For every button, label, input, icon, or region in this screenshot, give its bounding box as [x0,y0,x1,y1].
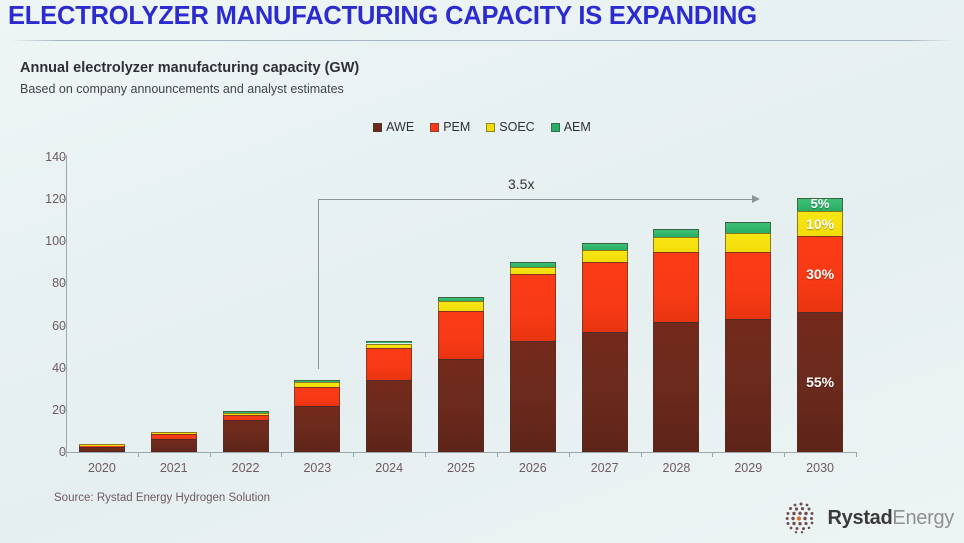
bar-value-label: 10% [798,216,842,232]
dotted-sphere-icon [783,500,819,536]
y-axis-tick-mark [62,199,67,200]
x-axis-tick-mark [784,452,785,457]
x-axis-tick-mark [712,452,713,457]
annotation-growth-label: 3.5x [508,176,534,192]
y-axis-tick-mark [62,241,67,242]
y-axis-tick-label: 100 [0,234,66,248]
x-axis-tick-mark [66,452,67,457]
x-axis-tick-label: 2023 [303,461,331,475]
bar-segment-2024-awe[interactable] [366,380,412,452]
bar-segment-2025-soec[interactable] [438,301,484,310]
bar-2021[interactable] [151,157,197,452]
bar-segment-2026-aem[interactable] [510,262,556,266]
bar-segment-2025-pem[interactable] [438,311,484,359]
x-axis-tick-label: 2022 [232,461,260,475]
bar-segment-2029-awe[interactable] [725,319,771,452]
y-axis-tick-label: 20 [0,403,66,417]
x-axis-tick-mark [281,452,282,457]
bar-segment-2023-soec[interactable] [294,382,340,386]
y-axis-tick-mark [62,283,67,284]
logo-wordmark: RystadEnergy [828,507,954,530]
bar-segment-2022-aem[interactable] [223,411,269,413]
y-axis-tick-mark [62,157,67,158]
bar-2020[interactable] [79,157,125,452]
bar-segment-2024-pem[interactable] [366,348,412,381]
y-axis-tick-label: 60 [0,319,66,333]
bar-segment-2023-awe[interactable] [294,406,340,452]
x-axis-tick-label: 2024 [375,461,403,475]
annotation-line-vertical [318,199,319,369]
x-axis-tick-mark [425,452,426,457]
bar-segment-2021-pem[interactable] [151,434,197,439]
bar-2025[interactable] [438,157,484,452]
bar-segment-2026-soec[interactable] [510,267,556,274]
x-axis-tick-label: 2029 [734,461,762,475]
y-axis-tick-label: 140 [0,150,66,164]
bar-segment-2028-pem[interactable] [653,252,699,323]
bar-segment-2024-soec[interactable] [366,344,412,348]
logo-text-bold: Rystad [828,507,893,529]
bar-2029[interactable] [725,157,771,452]
bar-segment-2023-pem[interactable] [294,387,340,406]
y-axis-tick-mark [62,410,67,411]
bar-segment-2030-aem[interactable]: 5% [797,198,843,211]
bar-value-label: 5% [798,196,842,211]
bar-segment-2030-soec[interactable]: 10% [797,211,843,236]
x-axis-line [66,452,856,453]
bar-segment-2027-pem[interactable] [582,262,628,332]
y-axis-tick-mark [62,368,67,369]
bar-segment-2026-awe[interactable] [510,341,556,452]
bar-value-label: 55% [798,374,842,390]
x-axis-tick-mark [210,452,211,457]
y-axis-tick-label: 120 [0,192,66,206]
bar-segment-2027-aem[interactable] [582,243,628,249]
bar-2022[interactable] [223,157,269,452]
x-axis-tick-label: 2021 [160,461,188,475]
logo-text-light: Energy [892,507,954,529]
bar-segment-2024-aem[interactable] [366,341,412,343]
bar-value-label: 30% [798,266,842,282]
chart-plot-area: 140120100806040200 202020212022202320242… [0,0,964,543]
bar-segment-2022-pem[interactable] [223,415,269,420]
bar-2028[interactable] [653,157,699,452]
bar-segment-2027-soec[interactable] [582,250,628,263]
bar-2024[interactable] [366,157,412,452]
bar-segment-2028-awe[interactable] [653,322,699,452]
y-axis-tick-label: 40 [0,361,66,375]
bar-segment-2023-aem[interactable] [294,380,340,382]
annotation-arrowhead-icon [752,195,760,203]
source-note: Source: Rystad Energy Hydrogen Solution [54,492,270,504]
x-axis-tick-mark [641,452,642,457]
bar-2027[interactable] [582,157,628,452]
x-axis-tick-label: 2020 [88,461,116,475]
y-axis-tick-mark [62,326,67,327]
bar-segment-2030-awe[interactable]: 55% [797,312,843,452]
bar-segment-2029-aem[interactable] [725,222,771,233]
y-axis-tick-label: 80 [0,276,66,290]
bar-segment-2025-awe[interactable] [438,359,484,452]
bar-segment-2022-awe[interactable] [223,420,269,452]
x-axis-tick-label: 2030 [806,461,834,475]
bar-2026[interactable] [510,157,556,452]
x-axis-tick-mark [856,452,857,457]
bar-segment-2025-aem[interactable] [438,297,484,301]
x-axis-tick-mark [138,452,139,457]
bar-segment-2030-pem[interactable]: 30% [797,236,843,312]
x-axis-tick-mark [569,452,570,457]
x-axis-tick-mark [353,452,354,457]
bar-segment-2027-awe[interactable] [582,332,628,452]
x-axis-tick-label: 2027 [591,461,619,475]
x-axis-tick-label: 2026 [519,461,547,475]
bar-segment-2026-pem[interactable] [510,274,556,341]
bar-segment-2029-soec[interactable] [725,233,771,252]
bar-segment-2021-awe[interactable] [151,439,197,452]
x-axis-tick-label: 2028 [663,461,691,475]
rystad-energy-logo: RystadEnergy [783,500,954,536]
x-axis-tick-label: 2025 [447,461,475,475]
bar-segment-2028-soec[interactable] [653,237,699,252]
x-axis-tick-mark [497,452,498,457]
bar-segment-2021-soec[interactable] [151,432,197,434]
bar-2030[interactable]: 55%30%10%5% [797,157,843,452]
bar-segment-2020-soec[interactable] [79,444,125,446]
bar-segment-2020-awe[interactable] [79,447,125,452]
bar-segment-2028-aem[interactable] [653,229,699,237]
y-axis-tick-label: 0 [0,445,66,459]
annotation-line-horizontal [318,199,755,200]
bar-segment-2029-pem[interactable] [725,252,771,319]
